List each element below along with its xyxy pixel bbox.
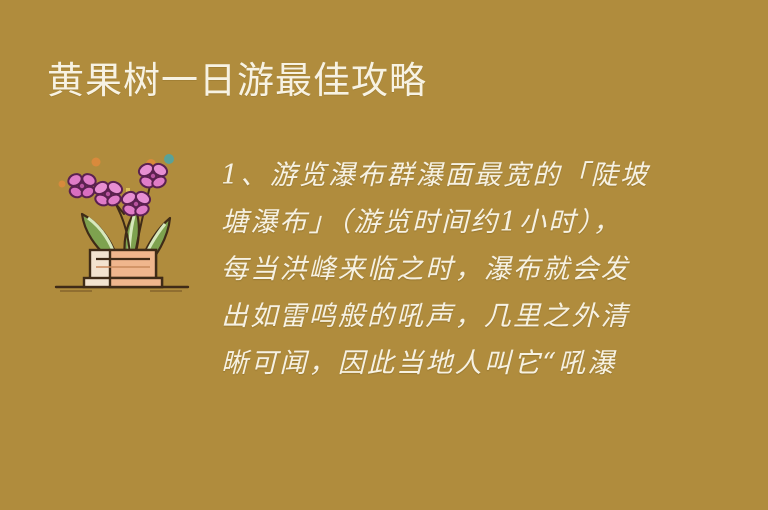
article-body: 1、游览瀑布群瀑面最宽的「陡坡 塘瀑布」（游览时间约1小时）， 每当洪峰来临之时…: [221, 152, 661, 387]
body-line: 每当洪峰来临之时，瀑布就会发: [221, 246, 661, 293]
body-line: 出如雷鸣般的吼声，几里之外清: [221, 293, 661, 340]
page-title: 黄果树一日游最佳攻略: [47, 58, 427, 104]
article-card: 黄果树一日游最佳攻略: [0, 0, 768, 510]
body-line: 1、游览瀑布群瀑面最宽的「陡坡: [221, 152, 661, 199]
body-line: 塘瀑布」（游览时间约1小时），: [221, 199, 661, 246]
body-line: 晰可闻，因此当地人叫它“吼瀑: [221, 340, 661, 387]
potted-orchid-illustration: [52, 142, 202, 302]
flower-pot: [84, 250, 162, 287]
